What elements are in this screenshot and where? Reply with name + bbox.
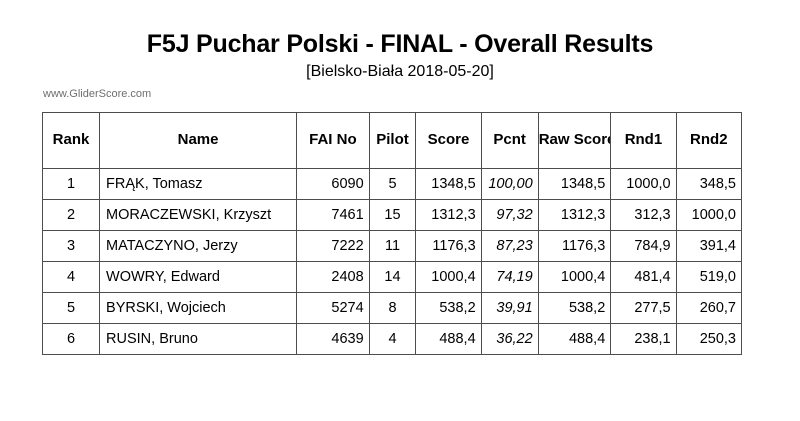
cell-pcnt: 100,00 [481, 169, 538, 200]
cell-score: 1312,3 [416, 200, 481, 231]
cell-pcnt: 36,22 [481, 324, 538, 355]
table-row: 2MORACZEWSKI, Krzyszt7461151312,397,3213… [43, 200, 742, 231]
cell-raw: 488,4 [538, 324, 611, 355]
table-header: Rank Name FAI No Pilot Score Pcnt Raw Sc… [43, 113, 742, 169]
cell-rank: 6 [43, 324, 100, 355]
cell-fai: 4639 [297, 324, 370, 355]
cell-pilot: 4 [369, 324, 416, 355]
cell-score: 1000,4 [416, 262, 481, 293]
cell-rank: 1 [43, 169, 100, 200]
cell-name: MATACZYNO, Jerzy [100, 231, 297, 262]
cell-name: MORACZEWSKI, Krzyszt [100, 200, 297, 231]
cell-name: FRĄK, Tomasz [100, 169, 297, 200]
column-header-pcnt: Pcnt [481, 113, 538, 169]
cell-pilot: 11 [369, 231, 416, 262]
cell-score: 1348,5 [416, 169, 481, 200]
cell-name: WOWRY, Edward [100, 262, 297, 293]
cell-pilot: 8 [369, 293, 416, 324]
cell-rnd1: 238,1 [611, 324, 676, 355]
cell-rnd1: 1000,0 [611, 169, 676, 200]
column-header-rnd1: Rnd1 [611, 113, 676, 169]
column-header-fai: FAI No [297, 113, 370, 169]
cell-rnd1: 481,4 [611, 262, 676, 293]
column-header-rnd2: Rnd2 [676, 113, 741, 169]
cell-score: 488,4 [416, 324, 481, 355]
cell-rnd1: 312,3 [611, 200, 676, 231]
table-row: 6RUSIN, Bruno46394488,436,22488,4238,125… [43, 324, 742, 355]
cell-rnd2: 348,5 [676, 169, 741, 200]
table-row: 3MATACZYNO, Jerzy7222111176,387,231176,3… [43, 231, 742, 262]
cell-rnd2: 519,0 [676, 262, 741, 293]
cell-rnd1: 277,5 [611, 293, 676, 324]
cell-raw: 1312,3 [538, 200, 611, 231]
column-header-pilot: Pilot [369, 113, 416, 169]
cell-fai: 7461 [297, 200, 370, 231]
table-body: 1FRĄK, Tomasz609051348,5100,001348,51000… [43, 169, 742, 355]
cell-pcnt: 74,19 [481, 262, 538, 293]
cell-rank: 2 [43, 200, 100, 231]
cell-rnd2: 260,7 [676, 293, 741, 324]
cell-rnd2: 1000,0 [676, 200, 741, 231]
cell-score: 538,2 [416, 293, 481, 324]
cell-fai: 7222 [297, 231, 370, 262]
cell-score: 1176,3 [416, 231, 481, 262]
cell-rnd2: 250,3 [676, 324, 741, 355]
cell-rnd2: 391,4 [676, 231, 741, 262]
overall-results-table: Rank Name FAI No Pilot Score Pcnt Raw Sc… [42, 112, 742, 355]
cell-fai: 5274 [297, 293, 370, 324]
cell-raw: 1176,3 [538, 231, 611, 262]
cell-name: BYRSKI, Wojciech [100, 293, 297, 324]
table-header-row: Rank Name FAI No Pilot Score Pcnt Raw Sc… [43, 113, 742, 169]
column-header-name: Name [100, 113, 297, 169]
cell-pcnt: 39,91 [481, 293, 538, 324]
cell-rnd1: 784,9 [611, 231, 676, 262]
column-header-raw-score: Raw Score [538, 113, 611, 169]
cell-rank: 4 [43, 262, 100, 293]
cell-rank: 3 [43, 231, 100, 262]
cell-raw: 1348,5 [538, 169, 611, 200]
column-header-score: Score [416, 113, 481, 169]
cell-pcnt: 87,23 [481, 231, 538, 262]
watermark-gliderscore: www.GliderScore.com [43, 88, 151, 100]
cell-name: RUSIN, Bruno [100, 324, 297, 355]
cell-raw: 1000,4 [538, 262, 611, 293]
cell-fai: 2408 [297, 262, 370, 293]
cell-pilot: 5 [369, 169, 416, 200]
page-title: F5J Puchar Polski - FINAL - Overall Resu… [0, 30, 800, 59]
cell-pilot: 15 [369, 200, 416, 231]
cell-raw: 538,2 [538, 293, 611, 324]
table-row: 1FRĄK, Tomasz609051348,5100,001348,51000… [43, 169, 742, 200]
cell-pilot: 14 [369, 262, 416, 293]
column-header-rank: Rank [43, 113, 100, 169]
page-subtitle: [Bielsko-Biała 2018-05-20] [0, 63, 800, 81]
cell-fai: 6090 [297, 169, 370, 200]
cell-rank: 5 [43, 293, 100, 324]
table-row: 5BYRSKI, Wojciech52748538,239,91538,2277… [43, 293, 742, 324]
table-row: 4WOWRY, Edward2408141000,474,191000,4481… [43, 262, 742, 293]
cell-pcnt: 97,32 [481, 200, 538, 231]
